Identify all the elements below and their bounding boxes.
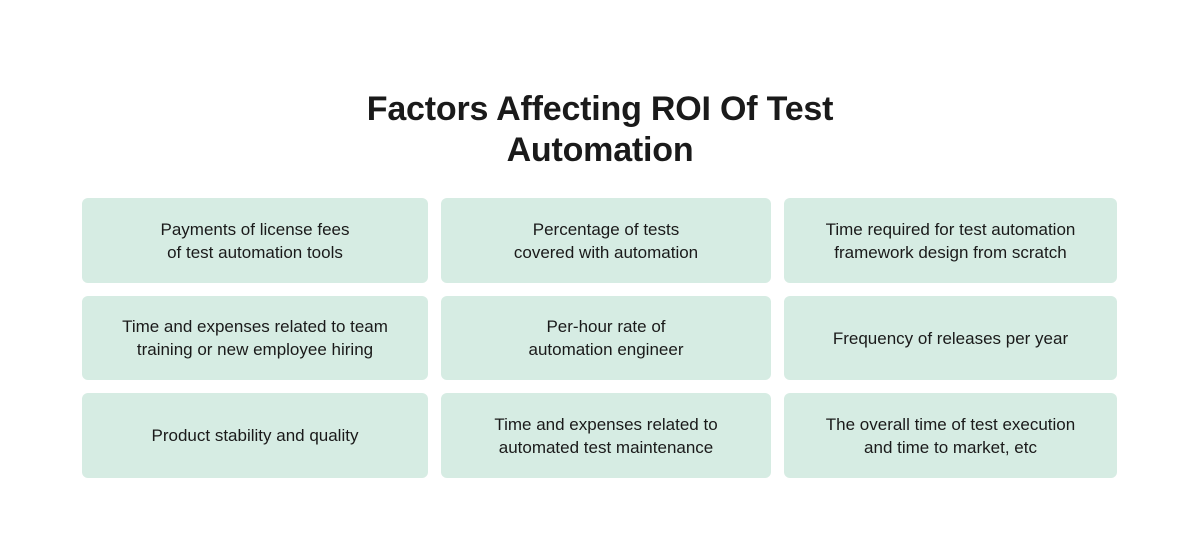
- infographic-page: Factors Affecting ROI Of Test Automation…: [0, 0, 1200, 554]
- factor-card-label: Product stability and quality: [152, 424, 359, 447]
- factor-card-release-frequency: Frequency of releases per year: [784, 296, 1117, 380]
- page-title: Factors Affecting ROI Of Test Automation: [0, 89, 1200, 171]
- factor-card-label: The overall time of test execution and t…: [826, 413, 1075, 459]
- factor-card-label: Payments of license fees of test automat…: [161, 218, 350, 264]
- factor-card-execution-time: The overall time of test execution and t…: [784, 393, 1117, 478]
- factor-card-label: Per-hour rate of automation engineer: [528, 315, 683, 361]
- factor-card-test-maintenance: Time and expenses related to automated t…: [441, 393, 771, 478]
- factor-card-label: Frequency of releases per year: [833, 327, 1068, 350]
- factor-card-license-fees: Payments of license fees of test automat…: [82, 198, 428, 283]
- factor-card-product-stability: Product stability and quality: [82, 393, 428, 478]
- factor-card-training-hiring: Time and expenses related to team traini…: [82, 296, 428, 380]
- factor-card-engineer-rate: Per-hour rate of automation engineer: [441, 296, 771, 380]
- factor-card-label: Time and expenses related to team traini…: [122, 315, 388, 361]
- factors-grid: Payments of license fees of test automat…: [82, 198, 1118, 478]
- factor-card-label: Time and expenses related to automated t…: [494, 413, 717, 459]
- factor-card-tests-covered: Percentage of tests covered with automat…: [441, 198, 771, 283]
- factor-card-label: Time required for test automation framew…: [826, 218, 1076, 264]
- factor-card-framework-design: Time required for test automation framew…: [784, 198, 1117, 283]
- factor-card-label: Percentage of tests covered with automat…: [514, 218, 698, 264]
